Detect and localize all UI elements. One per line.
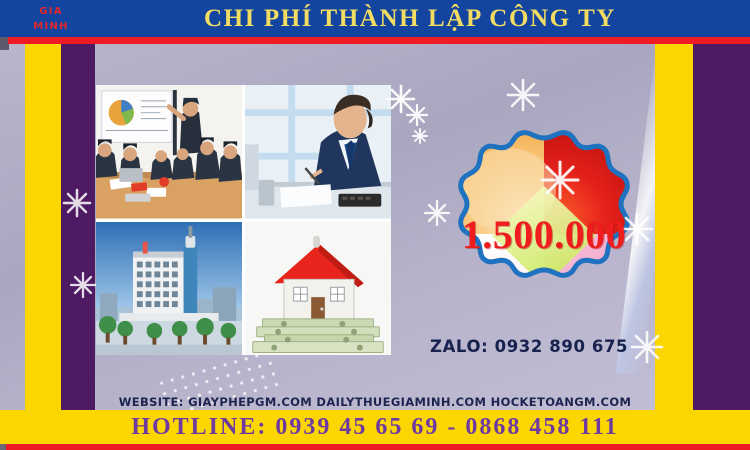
frame-stripe-purple-right <box>693 44 750 410</box>
logo-line-1: GIA <box>18 4 84 19</box>
office-building-photo <box>96 222 242 356</box>
frame-stripe-purple-left <box>61 44 95 410</box>
footer-red-trim <box>6 444 750 450</box>
header-red-divider <box>8 37 750 44</box>
hotline-text: HOTLINE: 0939 45 65 69 - 0868 458 111 <box>0 410 750 444</box>
businessman-writing-documents-photo <box>245 85 391 219</box>
business-meeting-presentation-photo <box>96 85 242 219</box>
logo-line-2: MINH <box>18 19 84 34</box>
zalo-contact-text: ZALO: 0932 890 675 <box>430 334 680 360</box>
website-list-text: WEBSITE: GIAYPHEPGM.COM DAILYTHUEGIAMINH… <box>0 392 750 412</box>
promotional-banner: 1.500.000 <box>0 0 750 450</box>
photo-collage <box>96 85 391 355</box>
frame-stripe-yellow-left <box>25 44 61 410</box>
badge-price-value: 1.500.000 <box>438 128 650 340</box>
brand-logo[interactable]: GIA MINH <box>18 4 84 34</box>
house-on-money-photo <box>245 222 391 356</box>
page-title: CHI PHÍ THÀNH LẬP CÔNG TY <box>100 0 720 37</box>
